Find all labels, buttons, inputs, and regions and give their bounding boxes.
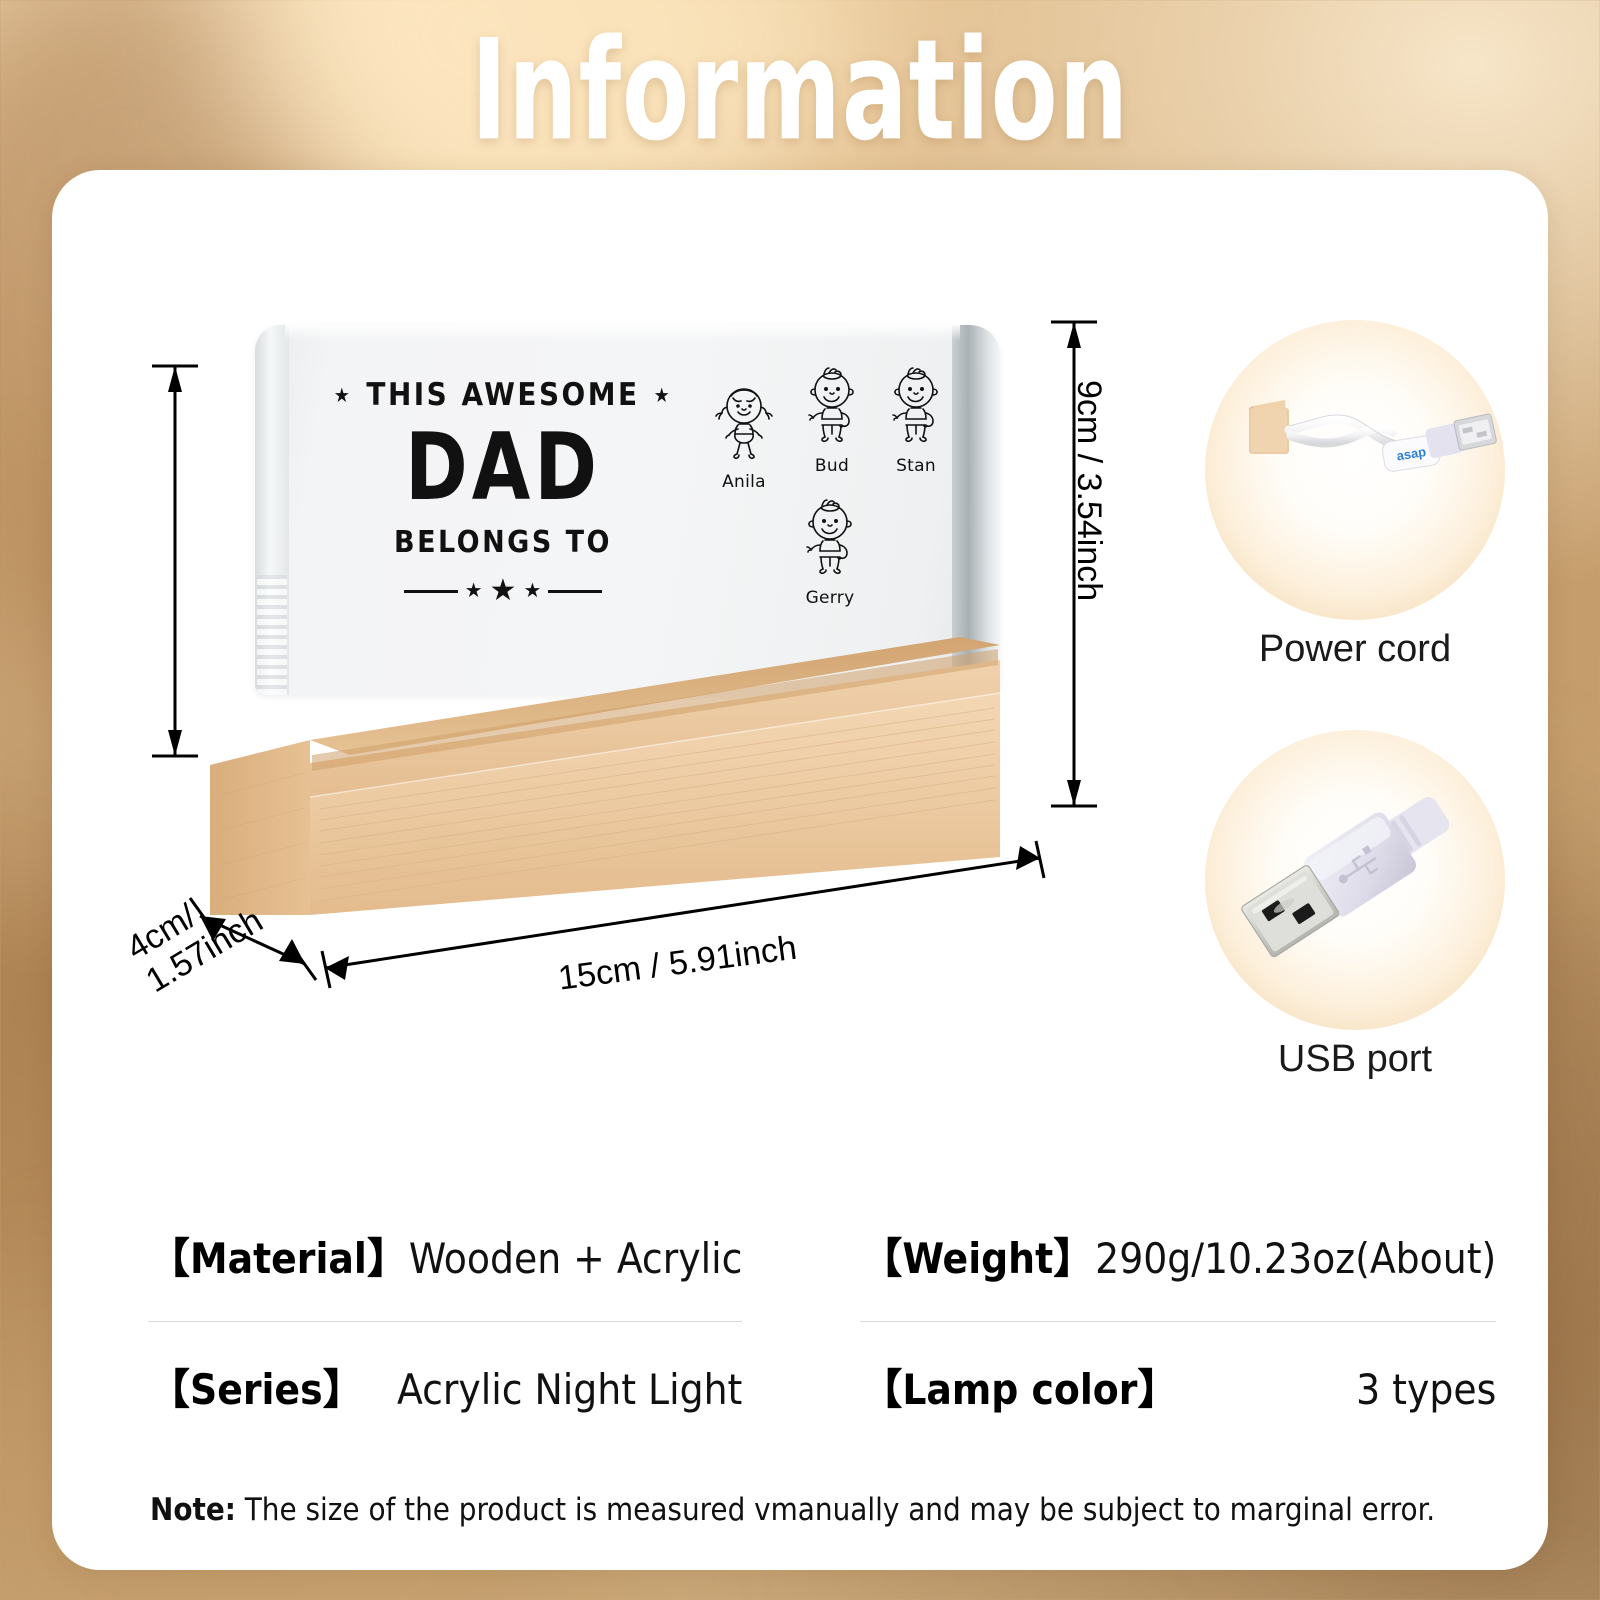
spec-column-left: 【Material】 Wooden + Acrylic 【Series】 Acr… [148, 1225, 742, 1446]
plaque-line-3: BELONGS TO [313, 525, 693, 560]
figure-gerry: Gerry [796, 495, 864, 608]
dimension-plaque-height: 6.9cm / 2.72inch [0, 109, 3, 358]
figure-name: Bud [798, 456, 866, 476]
plaque-engraving: ★ THIS AWESOME ★ DAD BELONGS TO ★ ★ ★ [313, 377, 693, 606]
star-icon: ★ [465, 581, 483, 601]
inset-caption: Power cord [1205, 628, 1505, 671]
figure-stan: Stan [882, 363, 950, 476]
plaque-star-divider: ★ ★ ★ [313, 576, 693, 606]
spec-key: 【Series】 [148, 1356, 365, 1417]
boy-stick-figure-icon [885, 363, 947, 455]
spec-key: 【Lamp color】 [860, 1356, 1179, 1417]
plaque-line-1-text: THIS AWESOME [366, 377, 639, 413]
usb-power-cable-icon: asap ​ [1205, 320, 1505, 620]
wooden-base [200, 615, 1060, 915]
spec-divider [860, 1321, 1496, 1322]
inset-caption: USB port [1205, 1038, 1505, 1081]
star-icon: ★ [654, 385, 673, 405]
spec-key: 【Weight】 [860, 1225, 1095, 1286]
boy-stick-figure-icon [799, 495, 861, 587]
inset-power-cord: asap ​ Power cord [1205, 320, 1505, 620]
figure-anila: Anila [710, 379, 778, 492]
product-illustration: ★ THIS AWESOME ★ DAD BELONGS TO ★ ★ ★ [200, 310, 1100, 990]
figure-name: Anila [710, 472, 778, 492]
figure-name: Gerry [796, 588, 864, 608]
divider-bar [404, 590, 458, 593]
spec-key: 【Material】 [148, 1225, 409, 1286]
spec-row-series: 【Series】 Acrylic Night Light [148, 1356, 742, 1446]
usb-a-connector-icon [1205, 730, 1505, 1030]
dimension-total-height: 9cm / 3.54inch [1069, 380, 1108, 601]
spec-column-right: 【Weight】 290g/10.23oz(About) 【Lamp color… [860, 1225, 1496, 1446]
acrylic-gloss [285, 325, 960, 341]
page-title: Information [64, 9, 1536, 172]
note-text: Note: The size of the product is measure… [150, 1492, 1460, 1528]
divider-bar [548, 590, 602, 593]
spec-value: Wooden + Acrylic [409, 1234, 743, 1283]
figure-bud: Bud [798, 363, 866, 476]
note-body: The size of the product is measured vman… [245, 1492, 1435, 1528]
spec-divider [148, 1321, 742, 1322]
boy-stick-figure-icon [801, 363, 863, 455]
spec-row-weight: 【Weight】 290g/10.23oz(About) [860, 1225, 1496, 1315]
plaque-line-1: ★ THIS AWESOME ★ [313, 377, 693, 413]
star-icon: ★ [334, 385, 353, 405]
glow-circle: asap ​ [1205, 320, 1505, 620]
figure-name: Stan [882, 456, 950, 476]
spec-row-lamp-color: 【Lamp color】 3 types [860, 1356, 1496, 1446]
spec-table: 【Material】 Wooden + Acrylic 【Series】 Acr… [148, 1225, 1448, 1446]
spec-row-material: 【Material】 Wooden + Acrylic [148, 1225, 742, 1315]
girl-stick-figure-icon [711, 379, 777, 471]
family-figures: Anila [710, 363, 950, 653]
star-icon: ★ [523, 581, 541, 601]
spec-value: 290g/10.23oz(About) [1095, 1234, 1496, 1283]
infographic-canvas: Information ★ THIS AWESOME ★ DAD BELONGS… [0, 0, 1600, 1600]
note-label: Note: [150, 1492, 236, 1528]
spec-value: 3 types [1356, 1365, 1496, 1414]
inset-usb-port: USB port [1205, 730, 1505, 1030]
glow-circle [1205, 730, 1505, 1030]
plaque-headline: DAD [313, 419, 693, 516]
star-icon: ★ [490, 576, 517, 606]
spec-value: Acrylic Night Light [397, 1365, 742, 1414]
